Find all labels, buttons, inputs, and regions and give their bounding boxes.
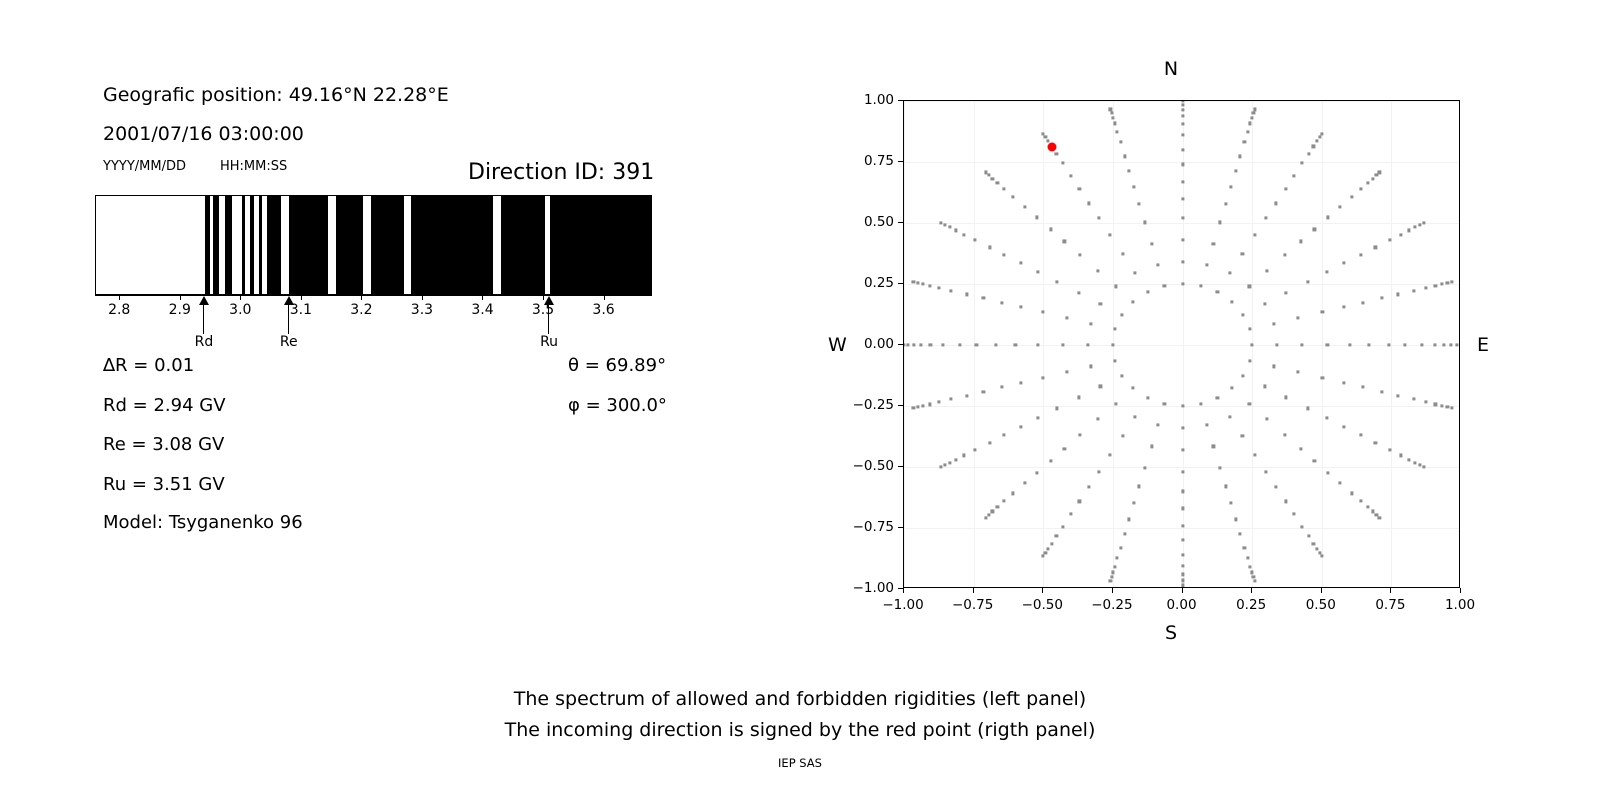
direction-point <box>1113 565 1116 568</box>
direction-point <box>1078 187 1081 190</box>
direction-point <box>1441 404 1444 407</box>
direction-point <box>921 282 924 285</box>
direction-point <box>1248 328 1251 331</box>
direction-point <box>1246 557 1249 560</box>
direction-point <box>1123 532 1126 535</box>
direction-point <box>912 343 915 346</box>
direction-point <box>1266 418 1269 421</box>
direction-point <box>1156 424 1159 427</box>
direction-point <box>1368 343 1371 346</box>
direction-point <box>912 280 915 283</box>
direction-point <box>1299 240 1302 243</box>
direction-point <box>1181 114 1184 117</box>
x-axis-tick <box>1182 588 1183 593</box>
direction-point <box>1134 415 1137 418</box>
direction-point <box>1338 481 1341 484</box>
direction-point <box>1399 454 1402 457</box>
direction-point <box>916 281 919 284</box>
direction-point <box>1181 180 1184 183</box>
direction-point <box>1388 448 1391 451</box>
direction-point <box>1181 103 1184 106</box>
direction-point <box>1044 135 1047 138</box>
direction-point <box>1128 169 1131 172</box>
direction-point <box>1264 217 1267 220</box>
y-axis-tick-label: −0.75 <box>853 519 903 535</box>
direction-point <box>1241 374 1244 377</box>
param-delta-r: ∆R = 0.01 <box>103 355 194 376</box>
x-axis-tick <box>1390 588 1391 593</box>
direction-point <box>1134 272 1137 275</box>
direction-point <box>912 407 915 410</box>
arrow-shaft <box>288 302 289 334</box>
direction-point <box>1181 108 1184 111</box>
direction-point <box>1320 555 1323 558</box>
direction-scatter-plot <box>903 100 1460 588</box>
direction-point <box>1181 163 1184 166</box>
direction-point <box>1212 445 1215 448</box>
direction-point <box>1023 205 1026 208</box>
forbidden-band <box>501 196 545 294</box>
direction-point <box>1327 216 1330 219</box>
direction-point <box>928 284 931 287</box>
direction-point <box>1181 426 1184 429</box>
direction-point <box>1224 485 1227 488</box>
direction-point <box>1459 343 1460 346</box>
direction-point <box>1253 579 1256 582</box>
direction-point <box>1123 155 1126 158</box>
gridline-vertical <box>1391 101 1392 587</box>
axis-tick <box>240 295 241 300</box>
direction-point <box>1424 286 1427 289</box>
direction-point <box>1181 579 1184 582</box>
direction-point <box>1065 316 1068 319</box>
direction-point <box>1241 434 1244 437</box>
direction-point <box>1248 359 1251 362</box>
direction-point <box>1138 485 1141 488</box>
direction-point <box>1181 100 1184 103</box>
direction-point <box>1119 141 1122 144</box>
direction-point <box>1133 185 1136 188</box>
direction-point <box>1181 123 1184 126</box>
x-axis-tick <box>1042 588 1043 593</box>
direction-point <box>1121 253 1124 256</box>
x-axis-tick <box>903 588 904 593</box>
direction-point <box>1156 263 1159 266</box>
direction-point <box>1181 470 1184 473</box>
direction-point <box>1250 571 1253 574</box>
rigidity-spectrum-bar <box>95 195 652 295</box>
direction-point <box>1096 269 1099 272</box>
direction-point <box>1443 343 1446 346</box>
direction-point <box>1114 359 1117 362</box>
direction-point <box>1163 284 1166 287</box>
direction-point <box>1253 108 1256 111</box>
direction-point <box>1306 280 1309 283</box>
x-axis-tick <box>1321 588 1322 593</box>
direction-point <box>1272 365 1275 368</box>
footer-credit: IEP SAS <box>0 756 1600 770</box>
direction-point <box>1216 291 1219 294</box>
direction-point <box>1181 573 1184 576</box>
direction-point <box>1019 262 1022 265</box>
y-axis-tick-label: 0.25 <box>864 275 903 291</box>
direction-point <box>1348 343 1351 346</box>
direction-point <box>1412 289 1415 292</box>
direction-point <box>1441 282 1444 285</box>
direction-point <box>1212 242 1215 245</box>
direction-point <box>1002 253 1005 256</box>
x-axis-tick-label: 0.00 <box>1166 597 1196 613</box>
direction-point <box>963 454 966 457</box>
direction-point <box>1250 116 1253 119</box>
direction-point <box>1012 195 1015 198</box>
direction-point <box>1312 145 1315 148</box>
direction-point <box>929 343 932 346</box>
direction-point <box>1301 343 1304 346</box>
direction-point <box>1396 293 1399 296</box>
direction-point <box>1284 187 1287 190</box>
direction-point <box>1049 459 1052 462</box>
direction-point <box>1111 116 1114 119</box>
direction-point <box>941 343 944 346</box>
axis-tick <box>422 295 423 300</box>
direction-point <box>1181 134 1184 137</box>
x-axis-tick-label: 0.75 <box>1375 597 1405 613</box>
direction-point <box>1111 571 1114 574</box>
direction-point <box>1274 202 1277 205</box>
direction-id-label: Direction ID: 391 <box>468 160 654 185</box>
axis-tick-label: 3.2 <box>350 302 372 318</box>
direction-point <box>1055 535 1058 538</box>
direction-point <box>1313 459 1316 462</box>
y-axis-tick-label: 1.00 <box>864 92 903 108</box>
direction-point <box>1338 205 1341 208</box>
y-axis-tick-label: −0.50 <box>853 458 903 474</box>
direction-point <box>1163 402 1166 405</box>
direction-point <box>1374 441 1377 444</box>
direction-point <box>1041 311 1044 314</box>
direction-point <box>1114 328 1117 331</box>
direction-point <box>1128 518 1131 521</box>
direction-point <box>954 229 957 232</box>
direction-point <box>1063 240 1066 243</box>
direction-point <box>1109 579 1112 582</box>
direction-point <box>1315 547 1318 550</box>
forbidden-band <box>213 196 219 294</box>
direction-point <box>1297 316 1300 319</box>
direction-point <box>940 221 943 224</box>
direction-point <box>954 458 957 461</box>
direction-point <box>1285 291 1288 294</box>
direction-point <box>1434 284 1437 287</box>
direction-point <box>994 343 997 346</box>
direction-point <box>1446 406 1449 409</box>
direction-point <box>1306 407 1309 410</box>
direction-point <box>966 394 969 397</box>
axis-line <box>95 295 652 296</box>
direction-point <box>921 404 924 407</box>
direction-point <box>975 343 978 346</box>
direction-point <box>1366 181 1369 184</box>
direction-point <box>1283 433 1286 436</box>
direction-point <box>1243 141 1246 144</box>
axis-tick <box>361 295 362 300</box>
direction-point <box>1205 424 1208 427</box>
direction-point <box>1150 445 1153 448</box>
direction-point <box>1061 162 1064 165</box>
direction-point <box>1114 285 1117 288</box>
direction-point <box>1315 139 1318 142</box>
direction-point <box>1133 501 1136 504</box>
direction-point <box>991 510 994 513</box>
direction-point <box>1150 242 1153 245</box>
direction-point <box>973 238 976 241</box>
direction-point <box>1199 402 1202 405</box>
direction-point <box>1116 557 1119 560</box>
direction-point <box>1079 433 1082 436</box>
direction-point <box>1272 322 1275 325</box>
forbidden-band <box>242 196 245 294</box>
direction-point <box>982 390 985 393</box>
rigidity-marker-label: Re <box>280 334 298 350</box>
direction-point <box>1292 174 1295 177</box>
axis-tick <box>301 295 302 300</box>
direction-point <box>1224 202 1227 205</box>
direction-point <box>1412 398 1415 401</box>
direction-point <box>1299 447 1302 450</box>
direction-point <box>1307 152 1310 155</box>
direction-point <box>1263 385 1266 388</box>
direction-point <box>1252 111 1255 114</box>
direction-point <box>1003 500 1006 503</box>
direction-point <box>1146 396 1149 399</box>
direction-point <box>1234 169 1237 172</box>
direction-point <box>1042 555 1045 558</box>
direction-point <box>1119 546 1122 549</box>
direction-point <box>1049 228 1052 231</box>
direction-point <box>991 177 994 180</box>
direction-point <box>1088 202 1091 205</box>
direction-point <box>1301 525 1304 528</box>
direction-point <box>1055 152 1058 155</box>
direction-point <box>1143 221 1146 224</box>
axis-tick-label: 3.6 <box>592 302 614 318</box>
direction-point <box>1181 217 1184 220</box>
direction-point <box>1239 532 1242 535</box>
direction-point <box>1181 524 1184 527</box>
caption-line-1: The spectrum of allowed and forbidden ri… <box>0 688 1600 710</box>
direction-point <box>1283 254 1286 257</box>
x-axis-tick-label: −0.25 <box>1091 597 1132 613</box>
forbidden-band <box>267 196 281 294</box>
direction-point <box>1181 197 1184 200</box>
direction-point <box>937 401 940 404</box>
direction-point <box>1205 263 1208 266</box>
direction-point <box>1023 481 1026 484</box>
direction-point <box>1002 434 1005 437</box>
direction-point <box>1378 171 1381 174</box>
direction-point <box>1313 228 1316 231</box>
direction-point <box>1228 272 1231 275</box>
axis-tick-label: 3.0 <box>229 302 251 318</box>
forbidden-band <box>250 196 254 294</box>
direction-point <box>1181 404 1184 407</box>
direction-point <box>1089 365 1092 368</box>
direction-point <box>1218 221 1221 224</box>
direction-point <box>1301 162 1304 165</box>
direction-point <box>1433 343 1436 346</box>
param-model: Model: Tsyganenko 96 <box>103 512 303 533</box>
direction-point <box>1070 174 1073 177</box>
axis-tick-label: 3.4 <box>471 302 493 318</box>
date-format-hint: YYYY/MM/DD <box>103 159 186 174</box>
forbidden-band <box>371 196 404 294</box>
direction-point <box>1455 343 1458 346</box>
direction-point <box>1121 434 1124 437</box>
forbidden-band <box>336 196 363 294</box>
direction-point <box>1359 500 1362 503</box>
direction-point <box>1378 516 1381 519</box>
direction-point <box>1253 234 1256 237</box>
direction-point <box>1077 396 1080 399</box>
direction-point <box>916 406 919 409</box>
direction-point <box>1343 425 1346 428</box>
direction-point <box>1036 343 1039 346</box>
direction-point <box>1019 425 1022 428</box>
direction-point <box>1446 281 1449 284</box>
direction-point <box>1350 492 1353 495</box>
y-axis-tick-label: 0.75 <box>864 153 903 169</box>
param-rd: Rd = 2.94 GV <box>103 395 226 416</box>
direction-point <box>963 233 966 236</box>
direction-point <box>1181 448 1184 451</box>
direction-point <box>1063 447 1066 450</box>
direction-point <box>1230 387 1233 390</box>
direction-point <box>987 513 990 516</box>
direction-point <box>1035 471 1038 474</box>
direction-point <box>1181 507 1184 510</box>
rigidity-spectrum-bar-container <box>95 195 652 295</box>
rigidity-marker-label: Ru <box>540 334 558 350</box>
axis-tick <box>482 295 483 300</box>
direction-point <box>1042 132 1045 135</box>
direction-point <box>1359 187 1362 190</box>
direction-point <box>973 448 976 451</box>
direction-point <box>950 289 953 292</box>
direction-point <box>1234 518 1237 521</box>
direction-point <box>1422 221 1425 224</box>
arrow-shaft <box>548 302 549 334</box>
direction-point <box>1036 417 1039 420</box>
direction-point <box>1450 343 1453 346</box>
direction-point <box>1099 302 1102 305</box>
gridline-vertical <box>1183 101 1184 587</box>
direction-point <box>1414 461 1417 464</box>
x-axis-tick-label: 0.25 <box>1236 597 1266 613</box>
axis-tick <box>604 295 605 300</box>
direction-point <box>1110 111 1113 114</box>
direction-point <box>1181 564 1184 567</box>
forbidden-band <box>225 196 232 294</box>
gridline-horizontal <box>904 467 1459 468</box>
datetime-label: 2001/07/16 03:00:00 <box>103 123 304 145</box>
y-axis-tick-label: −0.25 <box>853 397 903 413</box>
gridline-horizontal <box>904 345 1459 346</box>
forbidden-band <box>289 196 328 294</box>
direction-point <box>1274 485 1277 488</box>
x-axis-tick-label: −1.00 <box>882 597 923 613</box>
y-axis-tick-label: −1.00 <box>853 580 903 596</box>
direction-point <box>1111 343 1114 346</box>
direction-point <box>1326 417 1329 420</box>
x-axis-tick <box>1251 588 1252 593</box>
direction-point <box>919 343 922 346</box>
direction-point <box>1070 512 1073 515</box>
forbidden-band <box>550 196 652 294</box>
direction-point <box>1181 282 1184 285</box>
direction-point <box>1342 381 1345 384</box>
gridline-vertical <box>1322 101 1323 587</box>
gridline-horizontal <box>904 223 1459 224</box>
direction-point <box>1264 470 1267 473</box>
direction-point <box>1248 402 1251 405</box>
x-axis-tick-label: −0.75 <box>952 597 993 613</box>
direction-point <box>1434 403 1437 406</box>
direction-point <box>1366 506 1369 509</box>
direction-point <box>1089 322 1092 325</box>
cardinal-south-label: S <box>1165 622 1177 644</box>
direction-point <box>1108 453 1111 456</box>
direction-point <box>1371 177 1374 180</box>
direction-point <box>1181 238 1184 241</box>
direction-point <box>1239 155 1242 158</box>
cardinal-east-label: E <box>1477 334 1489 356</box>
direction-point <box>1041 376 1044 379</box>
direction-point <box>948 461 951 464</box>
direction-point <box>1132 387 1135 390</box>
direction-point <box>1078 500 1081 503</box>
direction-point <box>1216 396 1219 399</box>
direction-point <box>958 343 961 346</box>
direction-point <box>1450 280 1453 283</box>
direction-point <box>1321 311 1324 314</box>
direction-point <box>1292 512 1295 515</box>
direction-point <box>1109 108 1112 111</box>
direction-point <box>1014 343 1017 346</box>
direction-point <box>1001 301 1004 304</box>
direction-point <box>1266 269 1269 272</box>
direction-point <box>1327 471 1330 474</box>
gridline-vertical <box>1043 101 1044 587</box>
y-axis-tick-label: 0.00 <box>864 336 903 352</box>
direction-point <box>1312 542 1315 545</box>
direction-point <box>1099 385 1102 388</box>
direction-point <box>966 293 969 296</box>
direction-point <box>948 226 951 229</box>
x-axis-tick-label: 1.00 <box>1445 597 1475 613</box>
direction-point <box>1249 122 1252 125</box>
direction-point <box>988 441 991 444</box>
direction-point <box>1229 501 1232 504</box>
direction-point <box>1420 343 1423 346</box>
axis-tick-label: 3.3 <box>411 302 433 318</box>
direction-point <box>1404 343 1407 346</box>
direction-point <box>987 173 990 176</box>
direction-point <box>1097 470 1100 473</box>
direction-point <box>1371 510 1374 513</box>
direction-point <box>988 246 991 249</box>
direction-point <box>1241 253 1244 256</box>
